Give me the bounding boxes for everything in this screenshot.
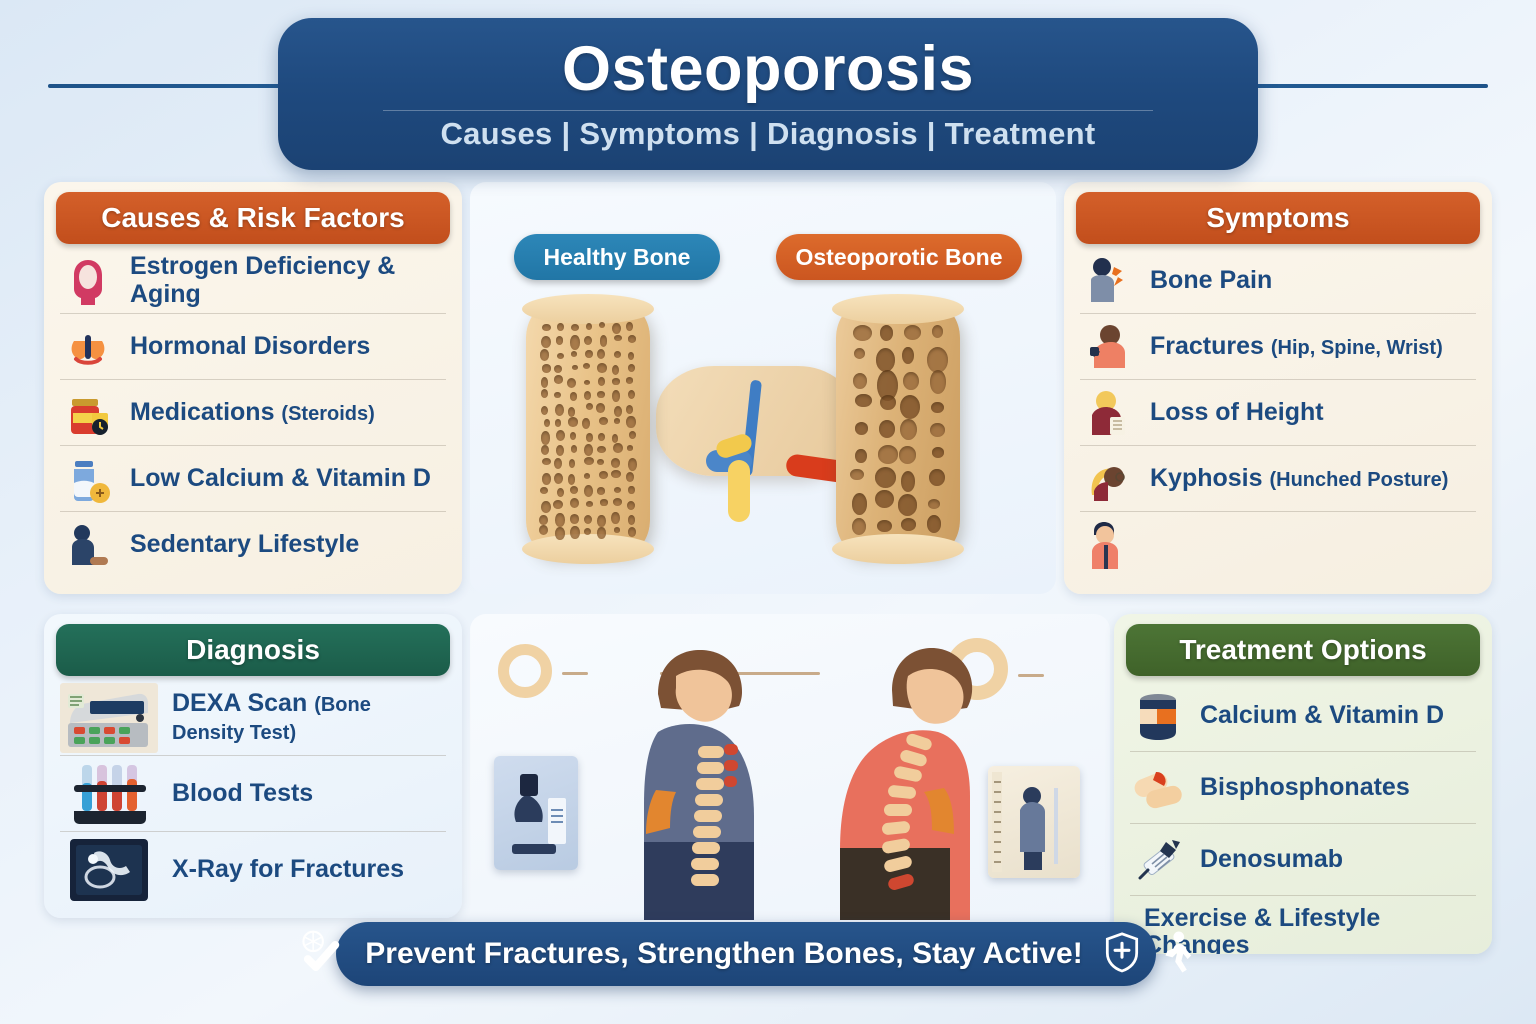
person-back-pain-icon bbox=[1080, 253, 1136, 309]
test-tube-rack-icon bbox=[60, 761, 158, 827]
person-measuring-height-icon bbox=[1080, 385, 1136, 441]
list-item[interactable] bbox=[1080, 512, 1476, 578]
list-item[interactable]: Bone Pain bbox=[1080, 248, 1476, 314]
list-item[interactable]: Kyphosis (Hunched Posture) bbox=[1080, 446, 1476, 512]
supplement-tub-icon bbox=[1130, 688, 1186, 744]
cta-text: Prevent Fractures, Strengthen Bones, Sta… bbox=[365, 937, 1082, 971]
list-item-label: X-Ray for Fractures bbox=[172, 856, 404, 884]
treatment-heading: Treatment Options bbox=[1179, 634, 1426, 666]
bone-comparison-illustration: Healthy Bone Osteoporotic Bone bbox=[470, 182, 1056, 594]
call-to-action-banner: Prevent Fractures, Strengthen Bones, Sta… bbox=[336, 922, 1156, 986]
list-item[interactable]: Blood Tests bbox=[60, 756, 446, 832]
syringe-icon bbox=[1130, 832, 1186, 888]
causes-panel-header: Causes & Risk Factors bbox=[56, 192, 450, 244]
list-item-label: Bone Pain bbox=[1150, 267, 1272, 295]
list-item[interactable]: Fractures (Hip, Spine, Wrist) bbox=[1080, 314, 1476, 380]
list-item-label: Estrogen Deficiency & Aging bbox=[130, 253, 446, 308]
list-item[interactable]: Estrogen Deficiency & Aging bbox=[60, 248, 446, 314]
nerve-yellow-branch-icon bbox=[728, 460, 750, 522]
symptoms-panel: Symptoms Bone Pain bbox=[1064, 182, 1492, 594]
milk-bottle-icon bbox=[60, 451, 116, 507]
list-item-label: Loss of Height bbox=[1150, 399, 1324, 427]
page-title: Osteoporosis bbox=[562, 36, 974, 102]
diagnosis-heading: Diagnosis bbox=[186, 634, 320, 666]
shield-plus-icon bbox=[1103, 931, 1141, 978]
osteoporotic-bone-cross-section bbox=[836, 304, 960, 554]
seated-person-icon bbox=[60, 517, 116, 573]
symptoms-panel-header: Symptoms bbox=[1076, 192, 1480, 244]
list-item-label: Low Calcium & Vitamin D bbox=[130, 465, 431, 493]
list-item-label: DEXA Scan (Bone Density Test) bbox=[172, 690, 446, 745]
connector-line bbox=[562, 672, 588, 675]
diagnosis-panel-header: Diagnosis bbox=[56, 624, 450, 676]
person-arm-fracture-icon bbox=[1080, 319, 1136, 375]
list-item[interactable]: Medications (Steroids) bbox=[60, 380, 446, 446]
list-item-label: Bisphosphonates bbox=[1200, 774, 1410, 802]
person-kyphotic-spine-icon bbox=[788, 636, 998, 926]
list-item-label: Calcium & Vitamin D bbox=[1200, 702, 1444, 730]
xray-film-icon bbox=[60, 837, 158, 903]
posture-comparison-illustration bbox=[470, 614, 1110, 934]
pills-icon bbox=[1130, 760, 1186, 816]
list-item-label: Hormonal Disorders bbox=[130, 333, 370, 361]
treatment-panel-header: Treatment Options bbox=[1126, 624, 1480, 676]
list-item[interactable]: Hormonal Disorders bbox=[60, 314, 446, 380]
pill-bottle-icon bbox=[60, 385, 116, 441]
height-chart-panel-icon bbox=[988, 766, 1080, 878]
list-item-label: Exercise & Lifestyle Changes bbox=[1144, 905, 1476, 955]
standing-person-icon bbox=[1080, 517, 1136, 573]
list-item-label: Fractures (Hip, Spine, Wrist) bbox=[1150, 333, 1443, 361]
list-item-label: Medications (Steroids) bbox=[130, 399, 375, 427]
list-item-label: Kyphosis (Hunched Posture) bbox=[1150, 465, 1448, 493]
causes-list: Estrogen Deficiency & Aging Hormonal Dis… bbox=[44, 248, 462, 578]
dense-bone-gear-icon bbox=[498, 644, 552, 698]
list-item-label: Blood Tests bbox=[172, 780, 313, 808]
list-item[interactable]: Sedentary Lifestyle bbox=[60, 512, 446, 578]
list-item[interactable]: Calcium & Vitamin D bbox=[1130, 680, 1476, 752]
diagnosis-panel: Diagnosis bbox=[44, 614, 462, 918]
walking-person-icon bbox=[1161, 930, 1193, 979]
list-item[interactable]: X-Ray for Fractures bbox=[60, 832, 446, 908]
thyroid-gland-icon bbox=[60, 319, 116, 375]
causes-heading: Causes & Risk Factors bbox=[101, 202, 404, 234]
list-item[interactable]: DEXA Scan (Bone Density Test) bbox=[60, 680, 446, 756]
list-item[interactable]: Bisphosphonates bbox=[1130, 752, 1476, 824]
symptoms-heading: Symptoms bbox=[1206, 202, 1349, 234]
dexa-scanner-icon bbox=[60, 683, 158, 753]
healthy-bone-badge: Healthy Bone bbox=[514, 234, 720, 280]
list-item-label: Sedentary Lifestyle bbox=[130, 531, 359, 559]
osteoporotic-bone-badge: Osteoporotic Bone bbox=[776, 234, 1022, 280]
list-item[interactable]: Low Calcium & Vitamin D bbox=[60, 446, 446, 512]
list-item[interactable]: Loss of Height bbox=[1080, 380, 1476, 446]
treatment-panel: Treatment Options Calcium & Vitamin D bbox=[1114, 614, 1492, 954]
title-inner-divider bbox=[383, 110, 1153, 111]
page-subtitle: Causes | Symptoms | Diagnosis | Treatmen… bbox=[440, 116, 1095, 152]
bone-checkmark-icon bbox=[299, 929, 345, 980]
treatment-list: Calcium & Vitamin D Bisphosphonates bbox=[1114, 680, 1492, 954]
title-banner: Osteoporosis Causes | Symptoms | Diagnos… bbox=[278, 18, 1258, 170]
hunched-elderly-person-icon bbox=[1080, 451, 1136, 507]
microscope-panel-icon bbox=[494, 756, 578, 870]
woman-icon bbox=[60, 253, 116, 309]
causes-panel: Causes & Risk Factors Estrogen Deficienc… bbox=[44, 182, 462, 594]
list-item-label: Denosumab bbox=[1200, 846, 1343, 874]
connector-line bbox=[1018, 674, 1044, 677]
list-item[interactable]: Denosumab bbox=[1130, 824, 1476, 896]
healthy-bone-cross-section bbox=[526, 304, 650, 554]
symptoms-list: Bone Pain Fractures (Hip, Spine, Wrist) bbox=[1064, 248, 1492, 578]
person-healthy-spine-icon bbox=[598, 636, 798, 926]
diagnosis-list: DEXA Scan (Bone Density Test) bbox=[44, 680, 462, 908]
